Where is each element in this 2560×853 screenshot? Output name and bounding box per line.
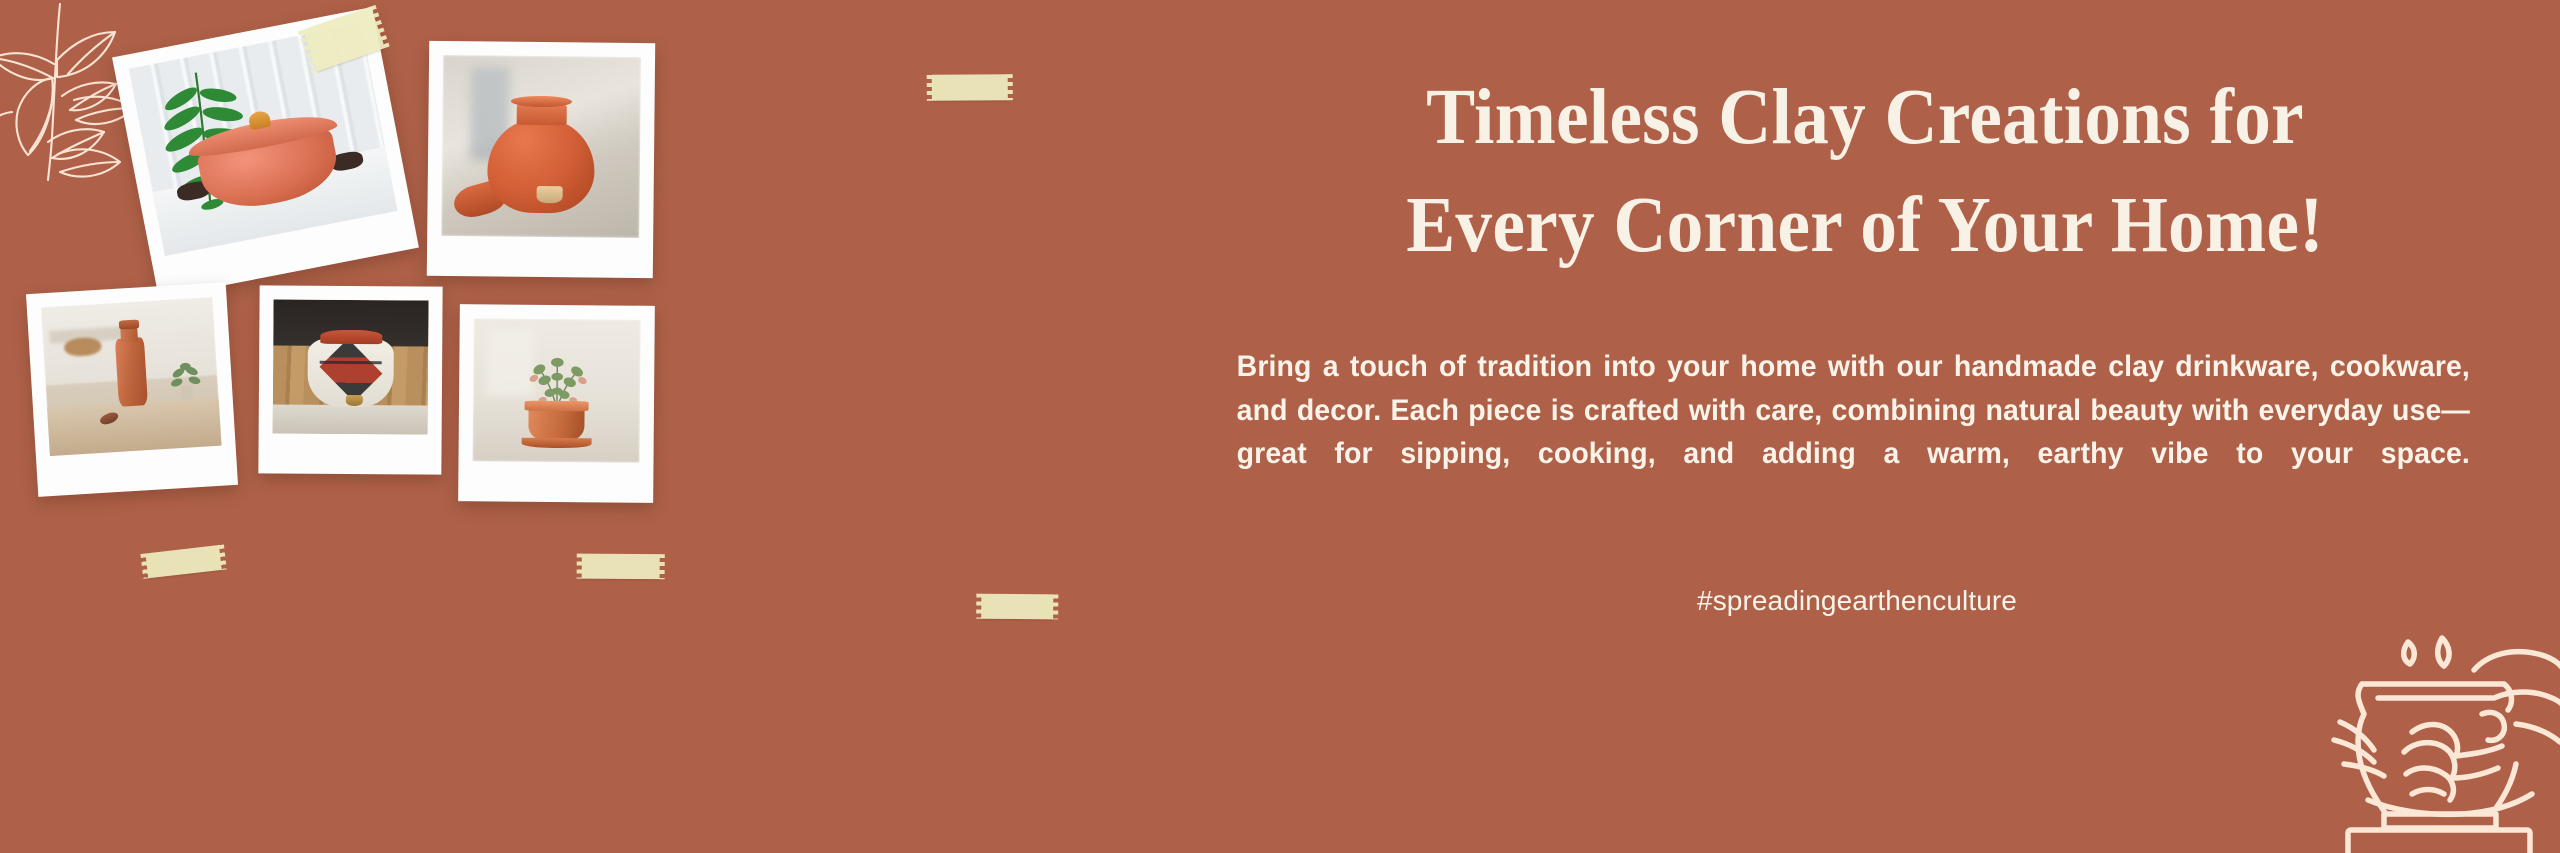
- photo-succulent-terracotta-planter: [472, 318, 640, 462]
- hashtag: #spreadingearthenculture: [1200, 585, 2530, 617]
- washi-tape: [981, 594, 1053, 620]
- photo-frame-water-pot[interactable]: [427, 41, 655, 278]
- body-paragraph: Bring a touch of tradition into your hom…: [1237, 345, 2470, 518]
- photo-frame-water-bottle[interactable]: [26, 282, 238, 497]
- headline-line-2: Every Corner of Your Home!: [1247, 180, 2484, 272]
- photo-frame-cookware[interactable]: [112, 7, 419, 298]
- page-title: Timeless Clay Creations for Every Corner…: [1247, 72, 2484, 271]
- banner-content: Timeless Clay Creations for Every Corner…: [1200, 0, 2530, 853]
- washi-tape: [582, 554, 660, 580]
- promotional-banner: Timeless Clay Creations for Every Corner…: [0, 0, 2560, 853]
- headline-line-1: Timeless Clay Creations for: [1247, 72, 2484, 164]
- photo-collage: [0, 0, 700, 853]
- photo-frame-painted-dispenser[interactable]: [258, 285, 442, 474]
- photo-hand-painted-clay-dispenser: [273, 299, 429, 434]
- photo-clay-water-bottle: [41, 297, 222, 456]
- photo-frame-planter[interactable]: [458, 304, 655, 503]
- photo-coral-dutch-oven: [128, 23, 397, 256]
- washi-tape: [932, 74, 1008, 101]
- washi-tape: [145, 545, 221, 578]
- washi-tape: [303, 6, 385, 71]
- body-description: Bring a touch of tradition into your hom…: [1200, 345, 2483, 518]
- photo-terracotta-water-pot: [441, 55, 641, 238]
